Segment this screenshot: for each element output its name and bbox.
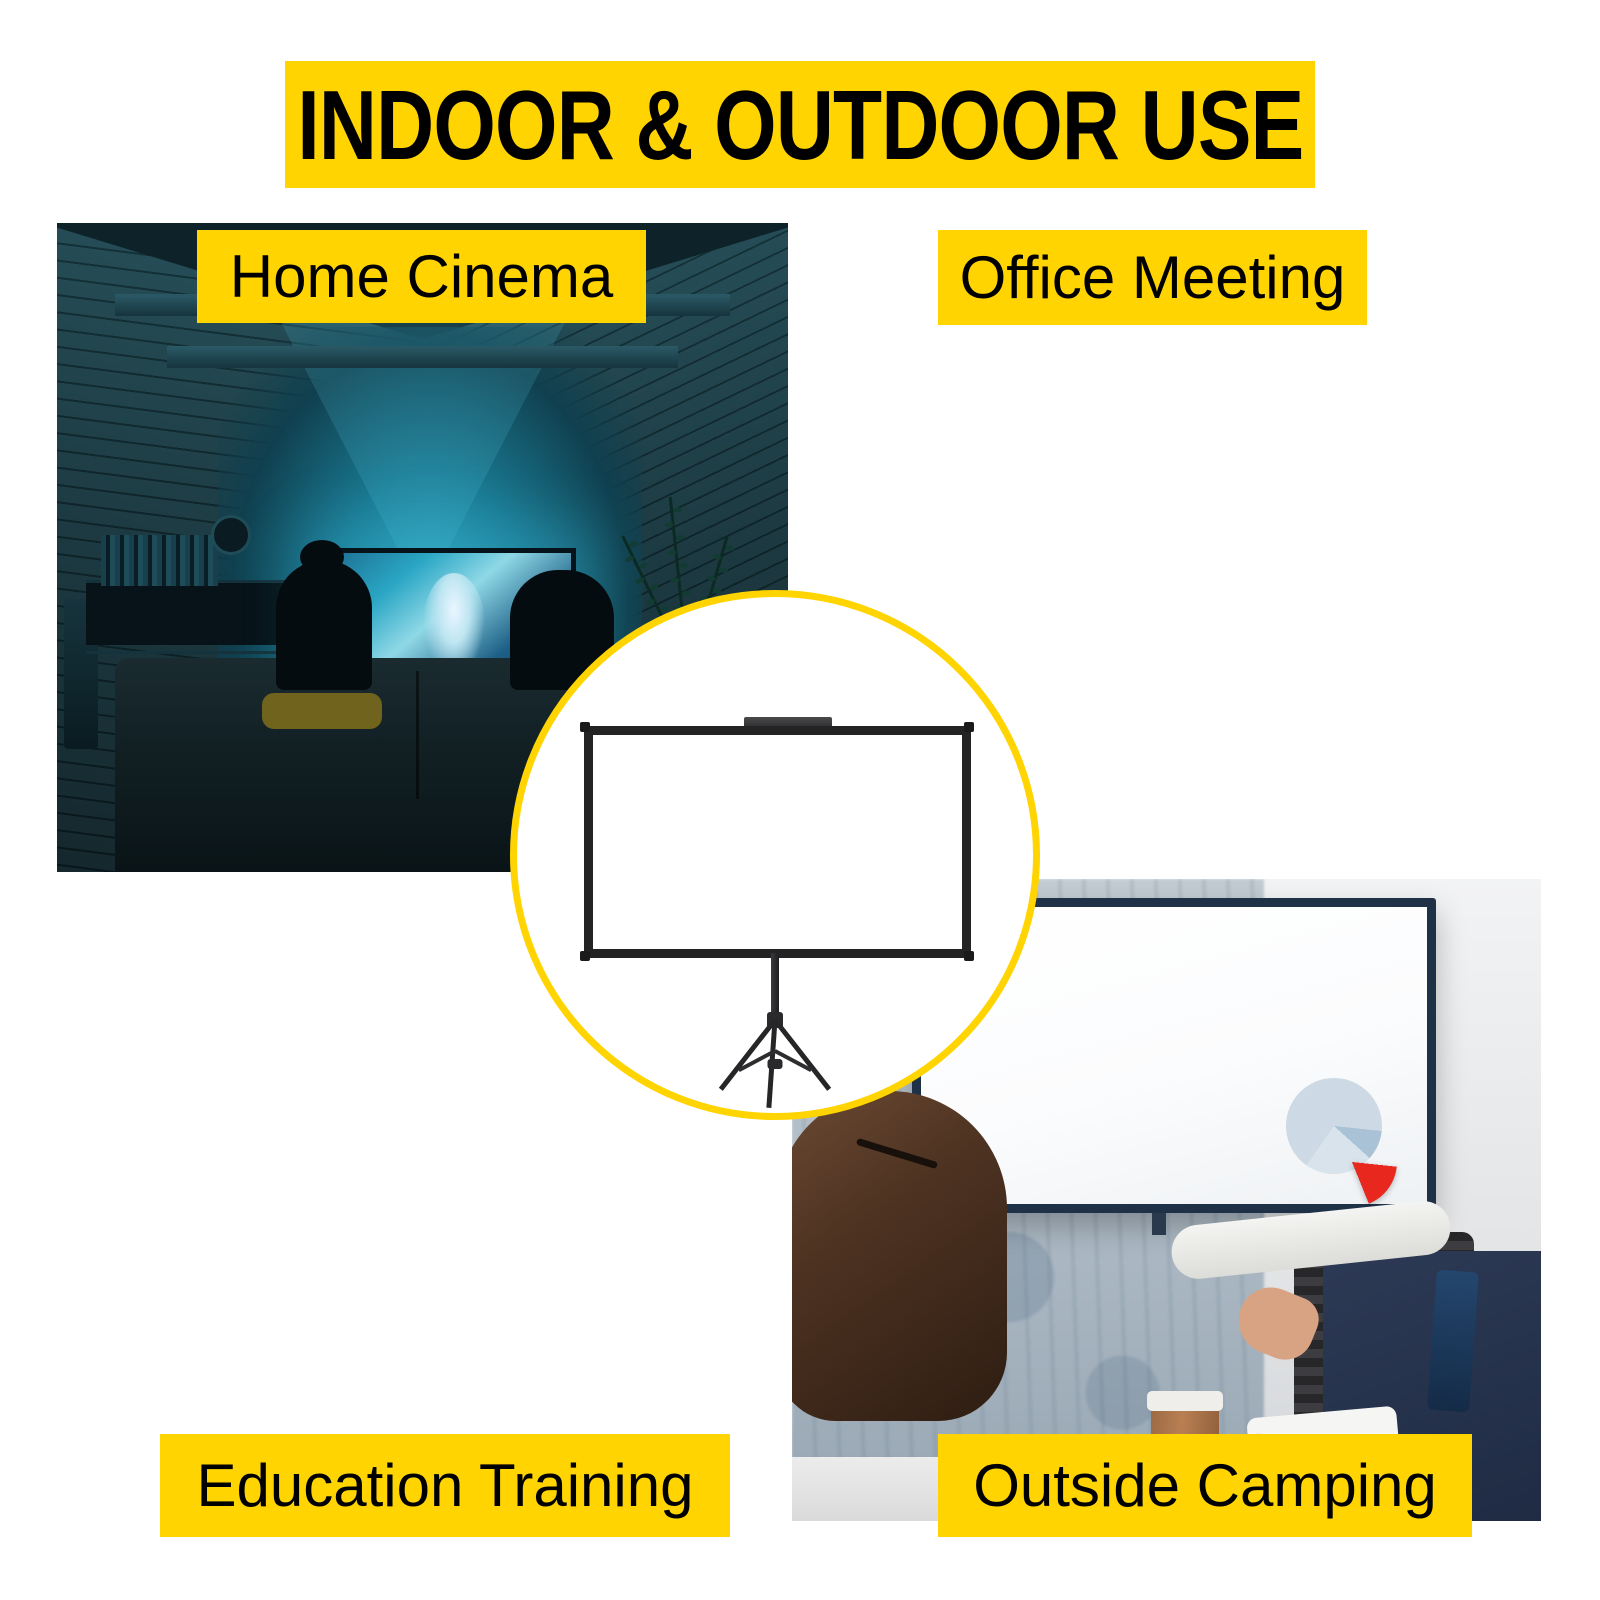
- leaf: [712, 553, 722, 560]
- wall-clock-icon: [211, 515, 251, 555]
- label-outside-camping: Outside Camping: [938, 1434, 1472, 1537]
- viewer-shirt: [262, 693, 382, 729]
- frame-corner: [964, 951, 974, 961]
- attendee-head: [792, 1091, 1007, 1421]
- label-office-meeting: Office Meeting: [938, 230, 1367, 325]
- leaf: [678, 562, 687, 568]
- leaf: [673, 506, 682, 512]
- leaf: [712, 588, 722, 595]
- leaf: [649, 582, 659, 590]
- leaf: [725, 544, 735, 551]
- label-home-cinema: Home Cinema: [197, 230, 646, 323]
- leaf: [624, 554, 634, 562]
- leaf: [628, 539, 638, 547]
- page-title: INDOOR & OUTDOOR USE: [297, 76, 1303, 174]
- leaf: [681, 589, 690, 595]
- leaf: [718, 566, 728, 573]
- books: [101, 535, 218, 587]
- screen-mount: [1152, 1213, 1166, 1235]
- leaf: [635, 576, 645, 584]
- title-banner: INDOOR & OUTDOOR USE: [285, 61, 1315, 188]
- leaf: [667, 549, 676, 555]
- frame-corner: [964, 722, 974, 732]
- ceiling-joist: [167, 346, 679, 368]
- frame-corner: [580, 951, 590, 961]
- label-education-training: Education Training: [160, 1434, 730, 1537]
- leaf: [638, 561, 648, 569]
- frame-corner: [580, 722, 590, 732]
- screen-surface: [584, 726, 971, 958]
- product-inset-circle[interactable]: [510, 590, 1040, 1120]
- tripod-projector-screen: [517, 597, 1033, 1113]
- tripod-foot: [768, 1059, 783, 1069]
- leaf: [670, 577, 679, 583]
- viewer-silhouette: [276, 560, 372, 690]
- leaf: [706, 574, 716, 581]
- pie-chart-highlight-slice: [1307, 1117, 1397, 1207]
- bookshelf-ledge: [86, 651, 305, 654]
- leaf: [664, 521, 673, 527]
- leaf: [675, 534, 684, 540]
